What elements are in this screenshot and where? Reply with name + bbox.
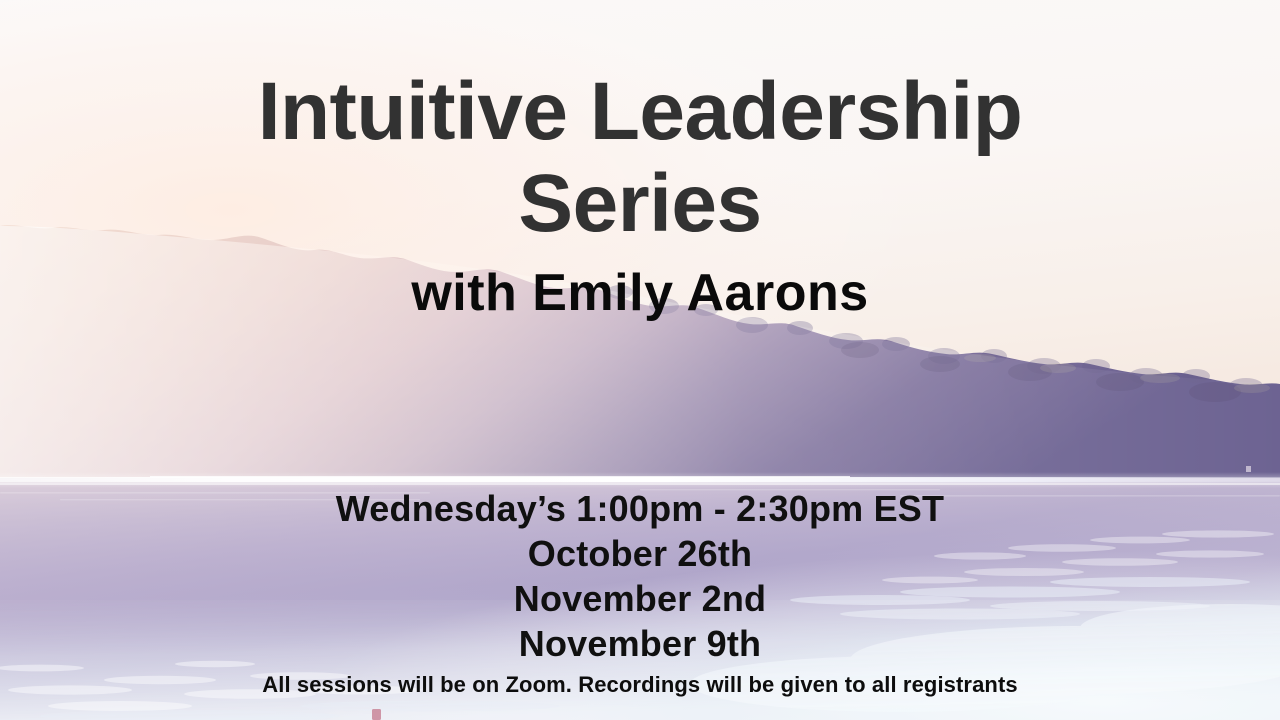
title-line-1: Intuitive Leadership	[0, 66, 1280, 158]
title-line-2: Series	[0, 158, 1280, 250]
schedule-date-1: October 26th	[0, 531, 1280, 576]
presenter-subtitle: with Emily Aarons	[0, 260, 1280, 326]
schedule-date-2: November 2nd	[0, 576, 1280, 621]
schedule-date-3: November 9th	[0, 621, 1280, 666]
slide-text-layer: Intuitive Leadership Series with Emily A…	[0, 0, 1280, 720]
footnote-text: All sessions will be on Zoom. Recordings…	[0, 671, 1280, 699]
slide-title: Intuitive Leadership Series	[0, 66, 1280, 250]
presentation-slide: Intuitive Leadership Series with Emily A…	[0, 0, 1280, 720]
schedule-time: Wednesday’s 1:00pm - 2:30pm EST	[0, 486, 1280, 531]
schedule-block: Wednesday’s 1:00pm - 2:30pm EST October …	[0, 486, 1280, 666]
